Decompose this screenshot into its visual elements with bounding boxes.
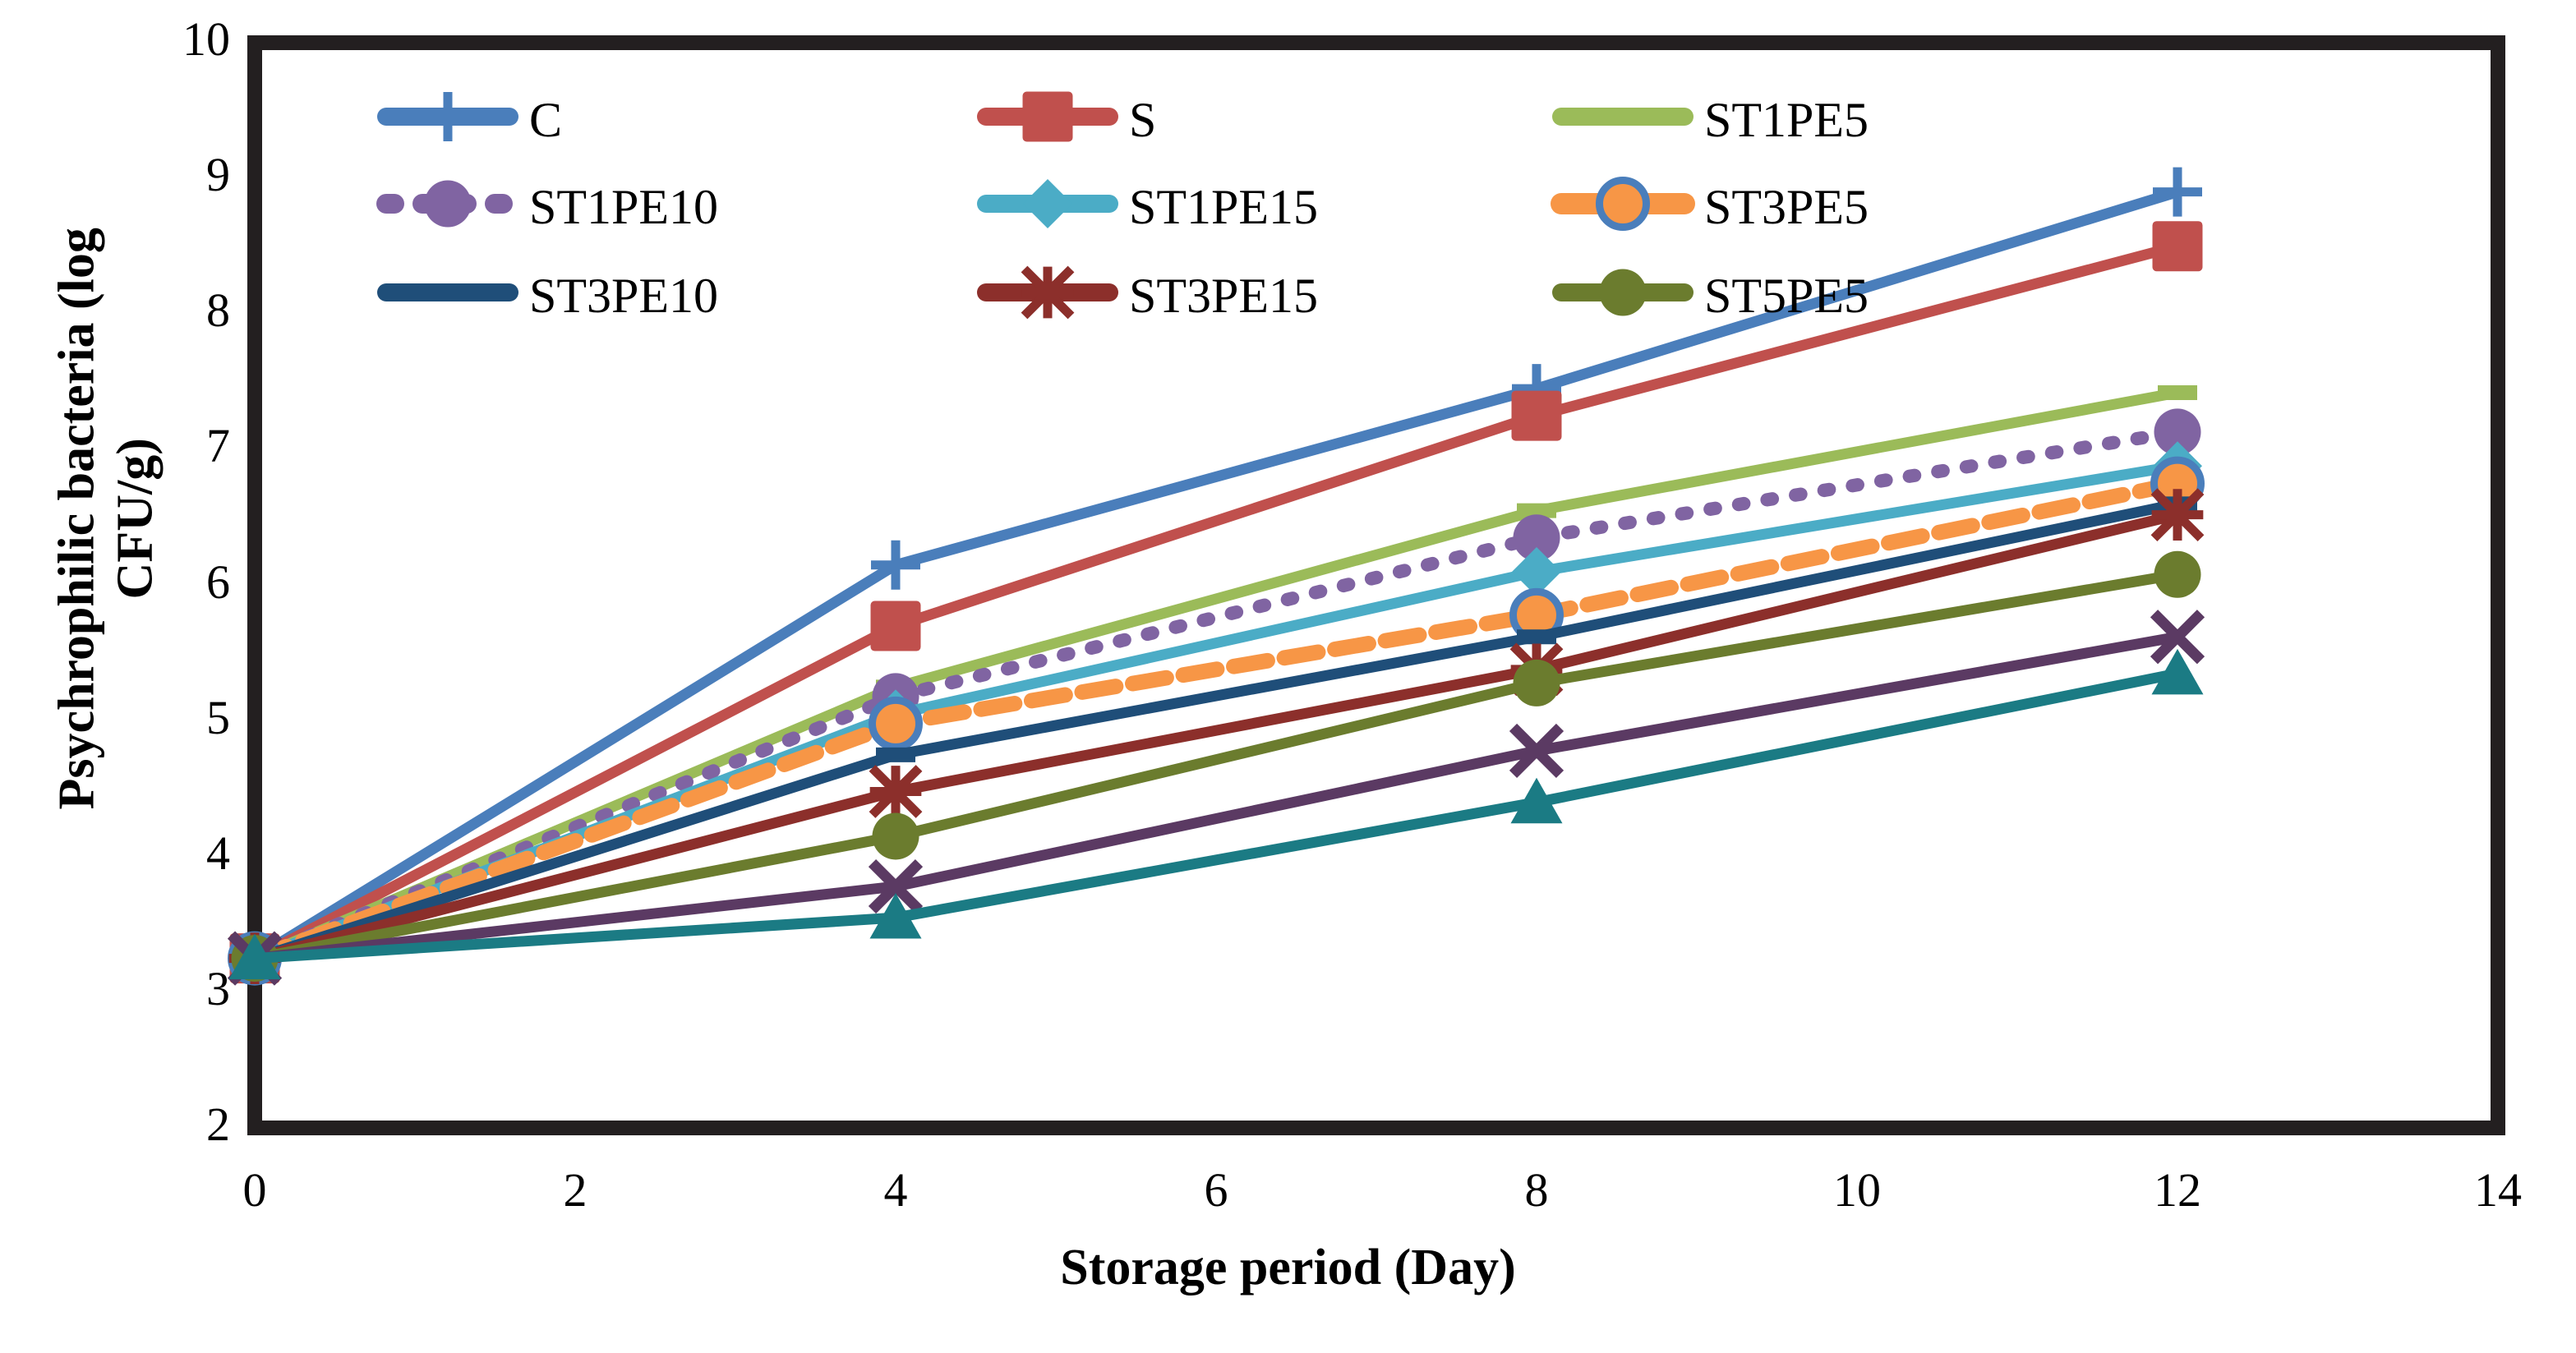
marker-circle-ring	[873, 700, 919, 747]
marker-asterisk	[1022, 267, 1074, 319]
series-line	[255, 574, 2177, 958]
legend-label-ST3PE5: ST3PE5	[1704, 180, 1869, 234]
series-line	[255, 637, 2177, 958]
legend-label-S: S	[1129, 93, 1156, 147]
marker-plus	[423, 92, 472, 141]
marker-asterisk	[2152, 489, 2204, 541]
legend-item-ST5PE5[interactable]: ST5PE5	[1561, 269, 1869, 323]
series-ST5PE5	[232, 551, 2201, 982]
legend-item-C[interactable]: C	[386, 92, 562, 147]
marker-circle	[425, 181, 472, 228]
legend-item-ST3PE10[interactable]: ST3PE10	[386, 269, 718, 323]
marker-plus	[2153, 168, 2202, 217]
legend-item-S[interactable]: S	[986, 93, 1156, 147]
marker-circle	[2154, 551, 2201, 598]
chart-figure: Psychrophilic bacteria (log CFU/g) Stora…	[0, 0, 2576, 1353]
marker-circle	[1514, 660, 1560, 706]
legend-label-ST3PE10: ST3PE10	[529, 269, 718, 323]
legend-item-ST1PE10[interactable]: ST1PE10	[386, 180, 718, 234]
marker-square	[2154, 223, 2201, 269]
legend-label-ST1PE15: ST1PE15	[1129, 180, 1318, 234]
marker-circle	[1600, 269, 1647, 316]
legend-label-ST5PE5: ST5PE5	[1704, 269, 1869, 323]
marker-square	[1514, 393, 1560, 439]
marker-circle	[873, 812, 919, 859]
legend-item-ST1PE15[interactable]: ST1PE15	[986, 179, 1318, 234]
marker-square	[873, 603, 919, 650]
marker-asterisk	[870, 766, 922, 817]
legend-item-ST3PE5[interactable]: ST3PE5	[1561, 180, 1869, 234]
legend-label-C: C	[529, 93, 562, 147]
legend-label-ST1PE10: ST1PE10	[529, 180, 718, 234]
plot-area: CSST1PE5ST1PE10ST1PE15ST3PE5ST3PE10ST3PE…	[0, 0, 2576, 1353]
marker-circle-ring	[1600, 181, 1647, 228]
legend-label-ST1PE5: ST1PE5	[1704, 93, 1869, 147]
marker-plus	[871, 541, 920, 590]
legend-item-ST1PE5[interactable]: ST1PE5	[1561, 93, 1869, 147]
marker-diamond	[1023, 179, 1072, 228]
legend: CSST1PE5ST1PE10ST1PE15ST3PE5ST3PE10ST3PE…	[386, 92, 1869, 323]
marker-square	[1025, 94, 1071, 140]
legend-label-ST3PE15: ST3PE15	[1129, 269, 1318, 323]
legend-item-ST3PE15[interactable]: ST3PE15	[986, 267, 1318, 323]
